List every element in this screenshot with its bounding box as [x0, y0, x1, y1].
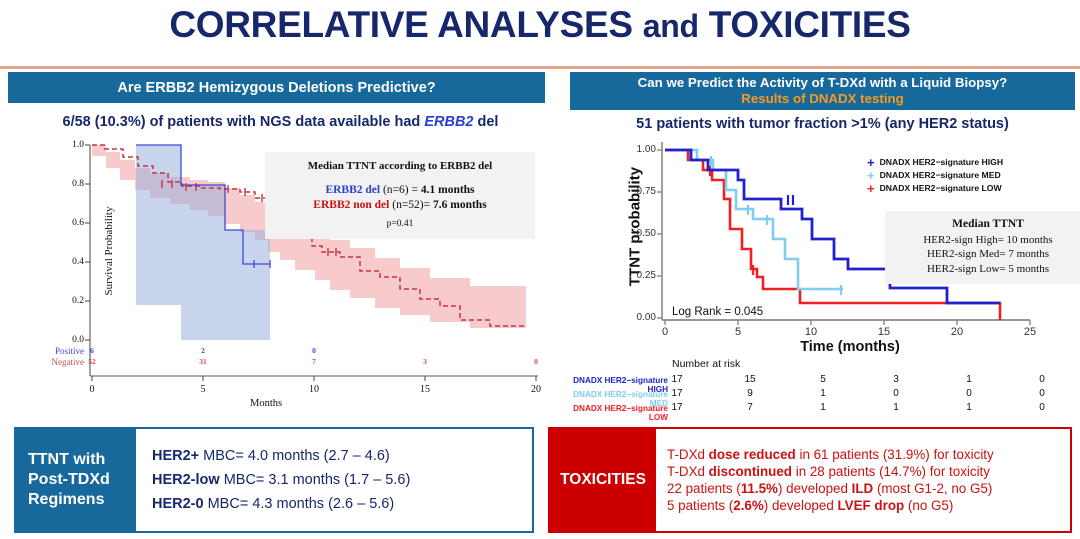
right-risk-low-25: 0	[1030, 402, 1054, 413]
toxicities-box: TOXICITIES T-DXd dose reduced in 61 pati…	[548, 427, 1072, 533]
ttnt-line-2-key: HER2-low	[152, 472, 220, 488]
left-xtick-0: 0	[80, 384, 104, 395]
tox-2-a: T-DXd	[667, 464, 709, 479]
left-stat-line1: ERBB2 del (n=6) = 4.1 months	[275, 183, 525, 199]
right-logrank-text: Log Rank = 0.045	[672, 306, 763, 318]
right-risk-low-20: 1	[957, 402, 981, 413]
title-part-1: CORRELATIVE ANALYSES	[169, 4, 642, 45]
right-risk-med-15: 0	[884, 388, 908, 399]
right-risk-low-0: 17	[665, 402, 689, 413]
toxicity-line-dose-reduced: T-DXd dose reduced in 61 patients (31.9%…	[667, 447, 1070, 462]
title-part-3: TOXICITIES	[699, 4, 911, 45]
right-risk-high-20: 1	[957, 374, 981, 385]
legend-item-med: + DNADX HER2−signature MED	[867, 169, 1003, 182]
toxicity-line-discontinued: T-DXd discontinued in 28 patients (14.7%…	[667, 464, 1070, 479]
right-xtick-25: 25	[1018, 326, 1042, 338]
right-risk-high-25: 0	[1030, 374, 1054, 385]
legend-label-high: DNADX HER2−signature HIGH	[880, 156, 1003, 168]
tox-1-a: T-DXd	[667, 447, 709, 462]
left-panel-subtitle: 6/58 (10.3%) of patients with NGS data a…	[8, 114, 553, 130]
left-risk-neg-5: 31	[191, 357, 215, 366]
page-title: CORRELATIVE ANALYSES and TOXICITIES	[0, 4, 1080, 46]
right-risk-med-5: 9	[738, 388, 762, 399]
tox-1-k: dose reduced	[709, 447, 796, 462]
legend-plus-low-icon: +	[867, 182, 875, 195]
left-stat-line1-label: ERBB2 del	[325, 184, 380, 196]
right-risk-high-0: 17	[665, 374, 689, 385]
ttnt-line-3-rest: MBC= 4.3 months (2.6 – 5.6)	[204, 496, 395, 512]
left-stat-pvalue: p=0.41	[275, 218, 525, 231]
tox-2-b: in 28 patients (14.7%) for toxicity	[792, 464, 990, 479]
legend-label-med: DNADX HER2−signature MED	[880, 169, 1001, 181]
ttnt-line-2-rest: MBC= 3.1 months (1.7 – 5.6)	[220, 472, 411, 488]
right-stat-line3: HER2-sign Low= 5 months	[893, 262, 1080, 277]
ttnt-box-tag: TTNT with Post-TDXd Regimens	[16, 429, 136, 531]
ttnt-line-her2-positive: HER2+ MBC= 4.0 months (2.7 – 4.6)	[152, 448, 532, 464]
right-stat-line1: HER2-sign High= 10 months	[893, 233, 1080, 248]
right-risk-med-10: 1	[811, 388, 835, 399]
toxicities-box-tag: TOXICITIES	[550, 429, 656, 531]
right-risk-med-25: 0	[1030, 388, 1054, 399]
ttnt-line-1-rest: MBC= 4.0 months (2.7 – 4.6)	[199, 448, 390, 464]
right-panel-header-line2: Results of DNADX testing	[570, 91, 1075, 107]
right-xtick-15: 15	[872, 326, 896, 338]
slide-root: CORRELATIVE ANALYSES and TOXICITIES Are …	[0, 0, 1080, 539]
toxicity-line-lvef: 5 patients (2.6%) developed LVEF drop (n…	[667, 498, 1070, 513]
ttnt-box-body: HER2+ MBC= 4.0 months (2.7 – 4.6) HER2-l…	[136, 429, 532, 531]
left-subtitle-pre: 6/58 (10.3%) of patients with NGS data a…	[63, 114, 425, 130]
tox-4-b: ) developed	[764, 498, 838, 513]
left-stat-line2-value: 7.6 months	[433, 199, 487, 211]
tox-2-k: discontinued	[709, 464, 792, 479]
tox-4-a: 5 patients (	[667, 498, 733, 513]
right-risk-title: Number at risk	[672, 358, 740, 370]
right-panel-header-line1: Can we Predict the Activity of T-DXd wit…	[570, 75, 1075, 91]
tox-3-b: ) developed	[778, 481, 852, 496]
right-stat-line2: HER2-sign Med= 7 months	[893, 247, 1080, 262]
right-xtick-10: 10	[799, 326, 823, 338]
left-risk-neg-15: 3	[413, 357, 437, 366]
ttnt-post-tdxd-box: TTNT with Post-TDXd Regimens HER2+ MBC= …	[14, 427, 534, 533]
tox-4-k: 2.6%	[733, 498, 764, 513]
right-xtick-20: 20	[945, 326, 969, 338]
left-stat-heading: Median TTNT according to ERBB2 del	[275, 159, 525, 174]
legend-label-low: DNADX HER2−signature LOW	[880, 182, 1002, 194]
right-risk-label-low: DNADX HER2−signature LOW	[558, 404, 668, 422]
right-xtick-5: 5	[726, 326, 750, 338]
left-xtick-5: 5	[191, 384, 215, 395]
title-part-2: and	[643, 8, 699, 44]
legend-item-low: + DNADX HER2−signature LOW	[867, 182, 1003, 195]
tox-4-k2: LVEF drop	[837, 498, 904, 513]
left-risk-neg-0: 52	[80, 357, 104, 366]
left-stat-line2-n: (n=52)=	[389, 199, 433, 211]
right-risk-low-10: 1	[811, 402, 835, 413]
right-median-ttnt-box: Median TTNT HER2-sign High= 10 months HE…	[885, 211, 1080, 284]
toxicities-box-body: T-DXd dose reduced in 61 patients (31.9%…	[656, 429, 1070, 531]
tox-1-b: in 61 patients (31.9%) for toxicity	[796, 447, 994, 462]
left-risk-pos-0: 6	[80, 346, 104, 355]
left-x-axis-title: Months	[250, 398, 282, 409]
tox-3-k: 11.5%	[741, 481, 778, 496]
left-xtick-15: 15	[413, 384, 437, 395]
left-stat-line1-n: (n=6) =	[380, 184, 421, 196]
right-stat-heading: Median TTNT	[893, 217, 1080, 233]
ttnt-line-3-key: HER2-0	[152, 496, 204, 512]
toxicity-line-ild: 22 patients (11.5%) developed ILD (most …	[667, 481, 1070, 496]
left-risk-neg-20: 0	[524, 357, 548, 366]
tox-4-c: (no G5)	[904, 498, 953, 513]
left-stat-line2-label: ERBB2 non del	[313, 199, 389, 211]
left-median-ttnt-box: Median TTNT according to ERBB2 del ERBB2…	[265, 152, 535, 239]
tox-3-a: 22 patients (	[667, 481, 741, 496]
tox-3-k2: ILD	[852, 481, 874, 496]
legend-item-high: + DNADX HER2−signature HIGH	[867, 156, 1003, 169]
right-risk-high-15: 3	[884, 374, 908, 385]
left-stat-line1-value: 4.1 months	[421, 184, 475, 196]
ttnt-line-1-key: HER2+	[152, 448, 199, 464]
left-subtitle-gene: ERBB2	[424, 114, 473, 130]
left-panel-header: Are ERBB2 Hemizygous Deletions Predictiv…	[8, 72, 545, 103]
right-risk-low-5: 7	[738, 402, 762, 413]
title-divider	[0, 66, 1080, 69]
left-subtitle-post: del	[473, 114, 498, 130]
right-risk-high-10: 5	[811, 374, 835, 385]
left-stat-line2: ERBB2 non del (n=52)= 7.6 months	[275, 198, 525, 214]
left-panel-header-text: Are ERBB2 Hemizygous Deletions Predictiv…	[8, 80, 545, 96]
right-chart-legend: + DNADX HER2−signature HIGH + DNADX HER2…	[867, 156, 1003, 195]
ttnt-line-her2-zero: HER2-0 MBC= 4.3 months (2.6 – 5.6)	[152, 496, 532, 512]
left-risk-label-positive: Positive	[22, 346, 84, 356]
left-risk-label-negative: Negative	[22, 357, 84, 367]
right-xtick-0: 0	[653, 326, 677, 338]
left-risk-pos-5: 2	[191, 346, 215, 355]
right-panel-subtitle: 51 patients with tumor fraction >1% (any…	[570, 116, 1075, 132]
tox-3-c: (most G1-2, no G5)	[873, 481, 992, 496]
right-x-axis-title: Time (months)	[750, 339, 950, 355]
left-risk-neg-10: 7	[302, 357, 326, 366]
right-risk-high-5: 15	[738, 374, 762, 385]
left-xtick-10: 10	[302, 384, 326, 395]
right-risk-med-20: 0	[957, 388, 981, 399]
right-risk-med-0: 17	[665, 388, 689, 399]
left-xtick-20: 20	[524, 384, 548, 395]
left-risk-pos-10: 0	[302, 346, 326, 355]
right-risk-low-15: 1	[884, 402, 908, 413]
ttnt-line-her2-low: HER2-low MBC= 3.1 months (1.7 – 5.6)	[152, 472, 532, 488]
right-panel-header: Can we Predict the Activity of T-DXd wit…	[570, 72, 1075, 110]
